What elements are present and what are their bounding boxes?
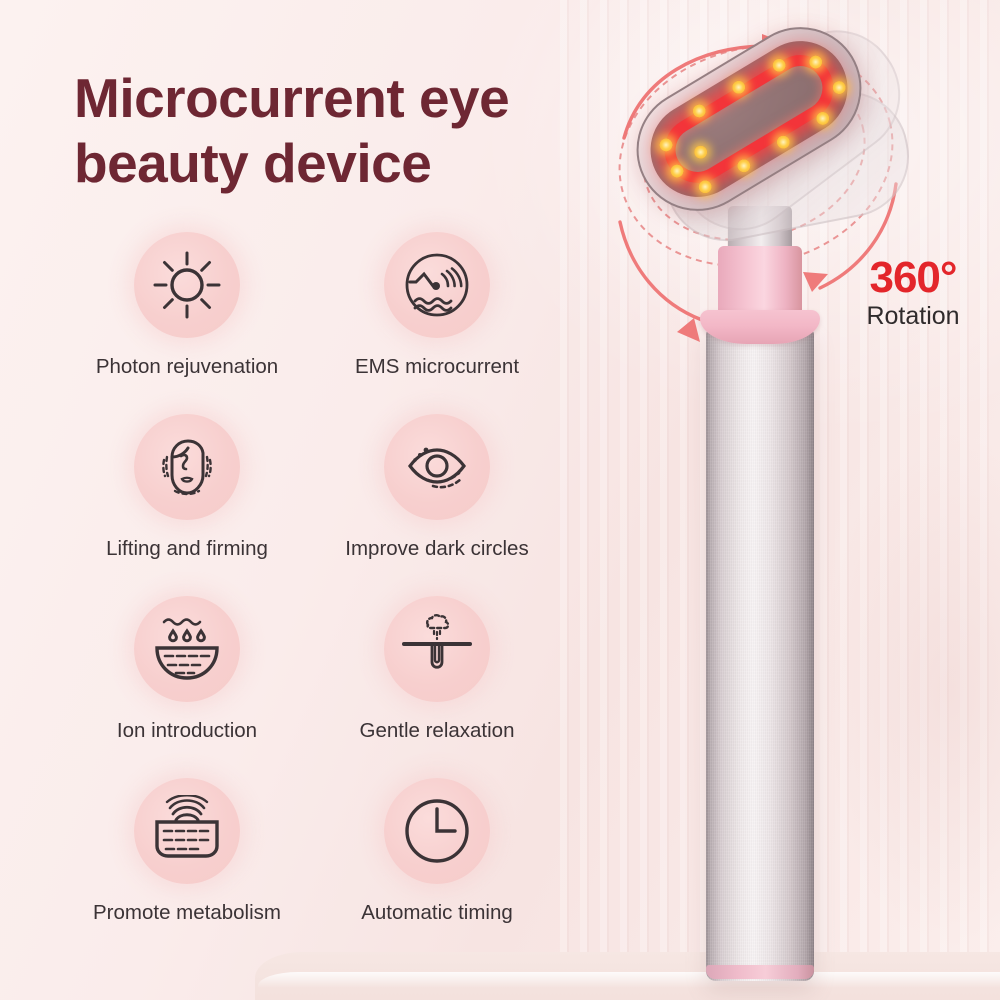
feature-row: Lifting and firming Improve dark circles	[62, 414, 562, 596]
page-title: Microcurrent eye beauty device	[74, 66, 634, 196]
feature-grid: Photon rejuvenation EMS microcurrent	[62, 232, 562, 960]
microcurrent-eye-wand: 360° Rotation	[600, 10, 1000, 1000]
feature-label: EMS microcurrent	[355, 355, 519, 379]
feature-label: Photon rejuvenation	[96, 355, 278, 379]
sun-icon	[134, 232, 240, 338]
feature-item-automatic-timing: Automatic timing	[312, 778, 562, 960]
feature-item-photon-rejuvenation: Photon rejuvenation	[62, 232, 312, 414]
pore-steam-icon	[384, 596, 490, 702]
feature-item-improve-dark-circles: Improve dark circles	[312, 414, 562, 596]
feature-row: Photon rejuvenation EMS microcurrent	[62, 232, 562, 414]
face-lifting-icon	[134, 414, 240, 520]
feature-item-ems-microcurrent: EMS microcurrent	[312, 232, 562, 414]
feature-label: Promote metabolism	[93, 901, 281, 925]
eye-icon	[384, 414, 490, 520]
wand-base	[706, 965, 814, 979]
product-marketing-banner: Microcurrent eye beauty device Photon re…	[0, 0, 1000, 1000]
ems-microcurrent-icon	[384, 232, 490, 338]
feature-item-lifting-and-firming: Lifting and firming	[62, 414, 312, 596]
feature-label: Lifting and firming	[106, 537, 268, 561]
feature-label: Automatic timing	[361, 901, 513, 925]
feature-label: Ion introduction	[117, 719, 257, 743]
wand-handle	[706, 328, 814, 981]
rotation-degrees: 360°	[838, 256, 988, 300]
rotation-caption: Rotation	[838, 304, 988, 329]
feature-item-promote-metabolism: Promote metabolism	[62, 778, 312, 960]
feature-row: Promote metabolism Automatic timing	[62, 778, 562, 960]
ion-bowl-droplets-icon	[134, 596, 240, 702]
feature-label: Improve dark circles	[345, 537, 528, 561]
rotation-badge: 360° Rotation	[838, 256, 988, 329]
feature-row: Ion introduction Gentle relaxation	[62, 596, 562, 778]
clock-icon	[384, 778, 490, 884]
feature-label: Gentle relaxation	[360, 719, 515, 743]
feature-item-ion-introduction: Ion introduction	[62, 596, 312, 778]
skin-layers-waves-icon	[134, 778, 240, 884]
feature-item-gentle-relaxation: Gentle relaxation	[312, 596, 562, 778]
